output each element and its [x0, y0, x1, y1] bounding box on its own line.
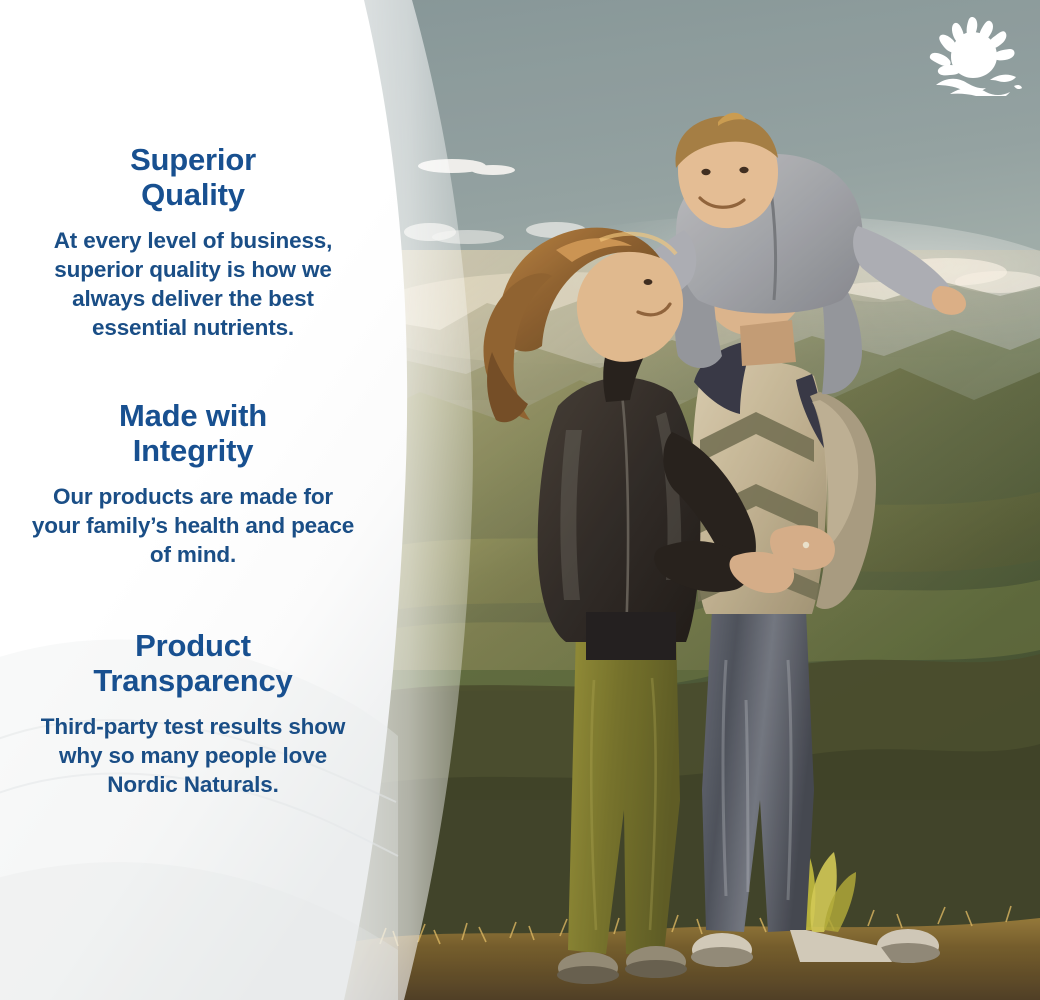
benefits-text-column: SuperiorQuality At every level of busine…	[0, 0, 400, 1000]
benefit-block-product-transparency: ProductTransparency Third-party test res…	[28, 628, 358, 799]
heading-line-1: Superior	[130, 142, 256, 177]
benefit-body-superior-quality: At every level of business, superior qua…	[28, 226, 358, 343]
benefit-heading-product-transparency: ProductTransparency	[28, 628, 358, 699]
benefit-heading-made-with-integrity: Made withIntegrity	[28, 398, 358, 469]
benefit-block-made-with-integrity: Made withIntegrity Our products are made…	[28, 398, 358, 569]
heading-line-2: Quality	[141, 177, 245, 212]
heading-line-1: Made with	[119, 398, 267, 433]
heading-line-2: Transparency	[93, 663, 292, 698]
benefit-body-made-with-integrity: Our products are made for your family’s …	[28, 482, 358, 570]
benefit-body-product-transparency: Third-party test results show why so man…	[28, 712, 358, 800]
heading-line-1: Product	[135, 628, 251, 663]
benefit-block-superior-quality: SuperiorQuality At every level of busine…	[28, 142, 358, 343]
heading-line-2: Integrity	[133, 433, 254, 468]
nordic-naturals-sun-wave-logo	[920, 14, 1028, 96]
benefit-heading-superior-quality: SuperiorQuality	[28, 142, 358, 213]
promo-banner: SuperiorQuality At every level of busine…	[0, 0, 1040, 1000]
